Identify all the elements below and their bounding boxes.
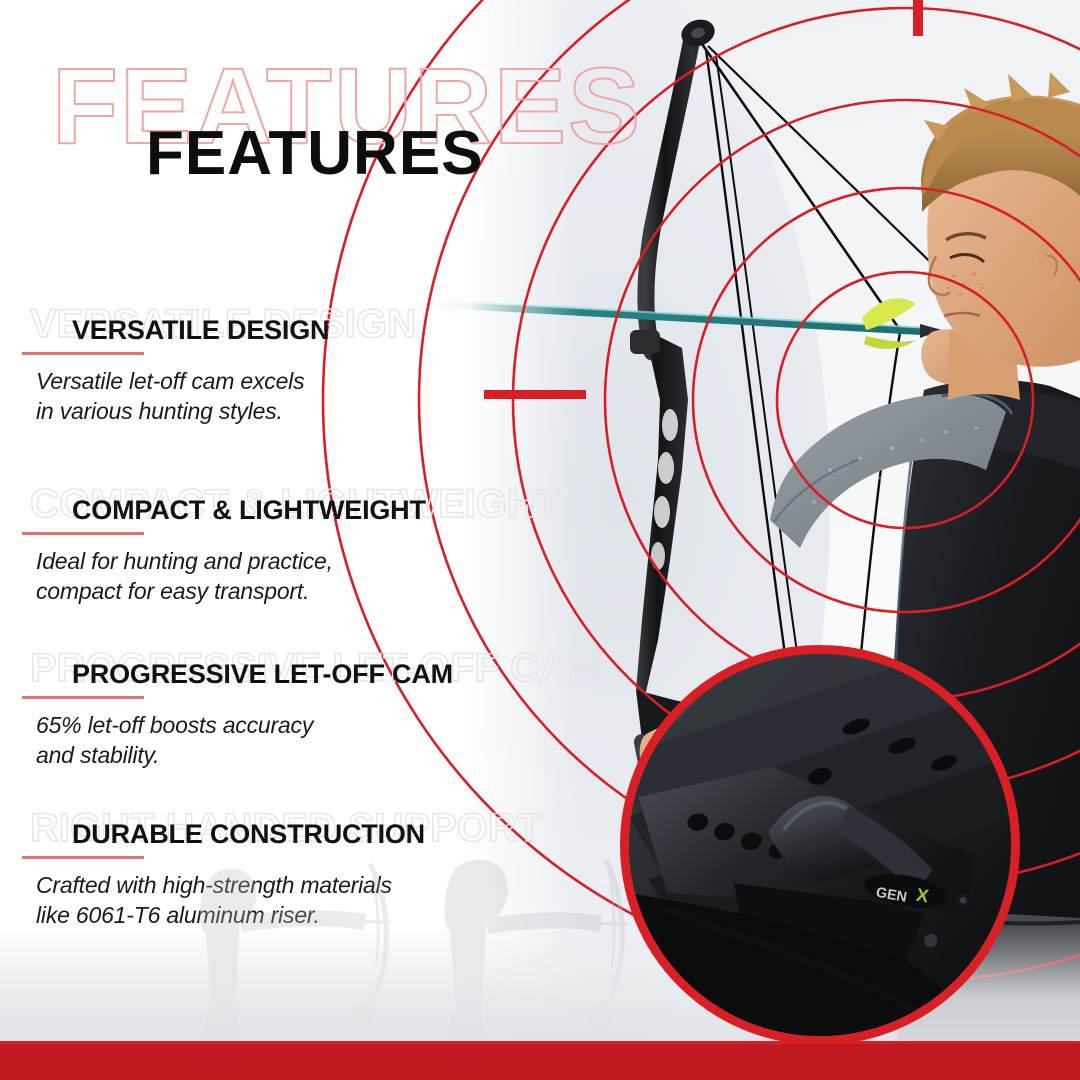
feature-description-line1: Ideal for hunting and practice,	[36, 546, 333, 576]
feature-accent-rule	[22, 696, 144, 699]
feature-description: Versatile let-off cam excels in various …	[36, 366, 304, 427]
feature-accent-rule	[22, 532, 144, 535]
bottom-red-bar	[0, 1044, 1080, 1080]
page-title: FEATURES	[146, 118, 484, 189]
poster-canvas: GEN X	[0, 0, 1080, 1080]
feature-description-line1: 65% let-off boosts accuracy	[36, 710, 313, 740]
crosshair-tick-left	[484, 390, 586, 399]
product-detail-inset: GEN X	[620, 645, 1020, 1045]
background-archers	[140, 824, 700, 1044]
feature-description: 65% let-off boosts accuracy and stabilit…	[36, 710, 313, 771]
feature-description-line2: in various hunting styles.	[36, 396, 304, 426]
feature-description-line2: and stability.	[36, 740, 313, 770]
feature-heading: PROGRESSIVE LET-OFF CAM	[72, 661, 453, 688]
feature-description-line2: compact for easy transport.	[36, 576, 333, 606]
feature-accent-rule	[22, 352, 144, 355]
feature-heading: COMPACT & LIGHTWEIGHT	[72, 497, 426, 524]
bow-riser-closeup: GEN X	[629, 654, 1011, 1036]
feature-description: Ideal for hunting and practice, compact …	[36, 546, 333, 607]
crosshair-tick-top	[913, 0, 923, 36]
feature-description-line1: Versatile let-off cam excels	[36, 366, 304, 396]
feature-heading: VERSATILE DESIGN	[72, 317, 329, 344]
feature-accent-rule	[22, 856, 144, 859]
